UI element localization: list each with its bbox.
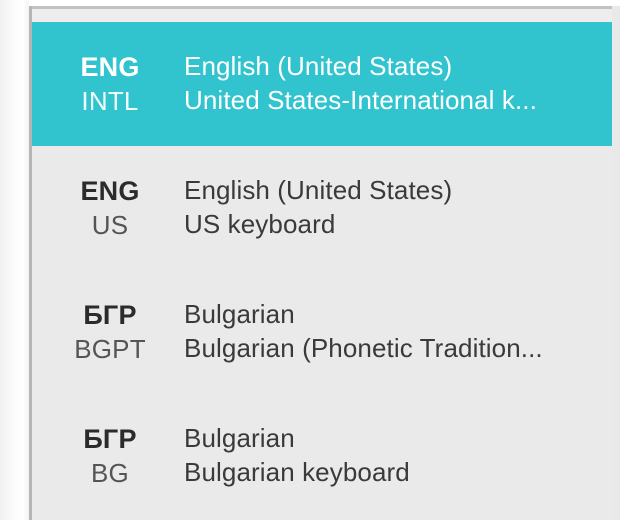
language-name: Bulgarian xyxy=(184,298,608,332)
language-name-block: English (United States) US keyboard xyxy=(184,174,612,242)
language-abbreviation: ENG xyxy=(36,174,184,209)
language-abbreviation: БГР xyxy=(36,298,184,333)
language-list: ENG INTL English (United States) United … xyxy=(32,22,620,520)
language-list-item-eng-us[interactable]: ENG US English (United States) US keyboa… xyxy=(32,146,612,270)
language-abbreviation: ENG xyxy=(36,50,184,85)
keyboard-layout-name: US keyboard xyxy=(184,208,608,242)
language-abbreviation: БГР xyxy=(36,422,184,457)
flyout-top-strip xyxy=(32,9,620,22)
language-abbreviation-block: ENG INTL xyxy=(32,50,184,119)
keyboard-layout-code: INTL xyxy=(36,85,184,119)
language-list-item-eng-intl[interactable]: ENG INTL English (United States) United … xyxy=(32,22,612,146)
screen: ENG INTL English (United States) United … xyxy=(0,0,620,520)
keyboard-layout-name: United States-International k... xyxy=(184,84,608,118)
language-list-item-bgr-bg[interactable]: БГР BG Bulgarian Bulgarian keyboard xyxy=(32,394,612,518)
keyboard-layout-code: BG xyxy=(36,457,184,491)
keyboard-layout-code: US xyxy=(36,209,184,243)
desktop-backdrop xyxy=(0,0,29,520)
keyboard-layout-code: BGPT xyxy=(36,333,184,367)
language-name-block: English (United States) United States-In… xyxy=(184,50,612,118)
language-abbreviation-block: БГР BGPT xyxy=(32,298,184,367)
keyboard-layout-name: Bulgarian keyboard xyxy=(184,456,608,490)
language-name: English (United States) xyxy=(184,174,608,208)
language-name: English (United States) xyxy=(184,50,608,84)
language-list-item-bgr-bgpt[interactable]: БГР BGPT Bulgarian Bulgarian (Phonetic T… xyxy=(32,270,612,394)
language-abbreviation-block: БГР BG xyxy=(32,422,184,491)
input-language-switcher-flyout: ENG INTL English (United States) United … xyxy=(32,6,620,520)
keyboard-layout-name: Bulgarian (Phonetic Tradition... xyxy=(184,332,608,366)
language-name-block: Bulgarian Bulgarian (Phonetic Tradition.… xyxy=(184,298,612,366)
language-name: Bulgarian xyxy=(184,422,608,456)
language-abbreviation-block: ENG US xyxy=(32,174,184,243)
language-name-block: Bulgarian Bulgarian keyboard xyxy=(184,422,612,490)
